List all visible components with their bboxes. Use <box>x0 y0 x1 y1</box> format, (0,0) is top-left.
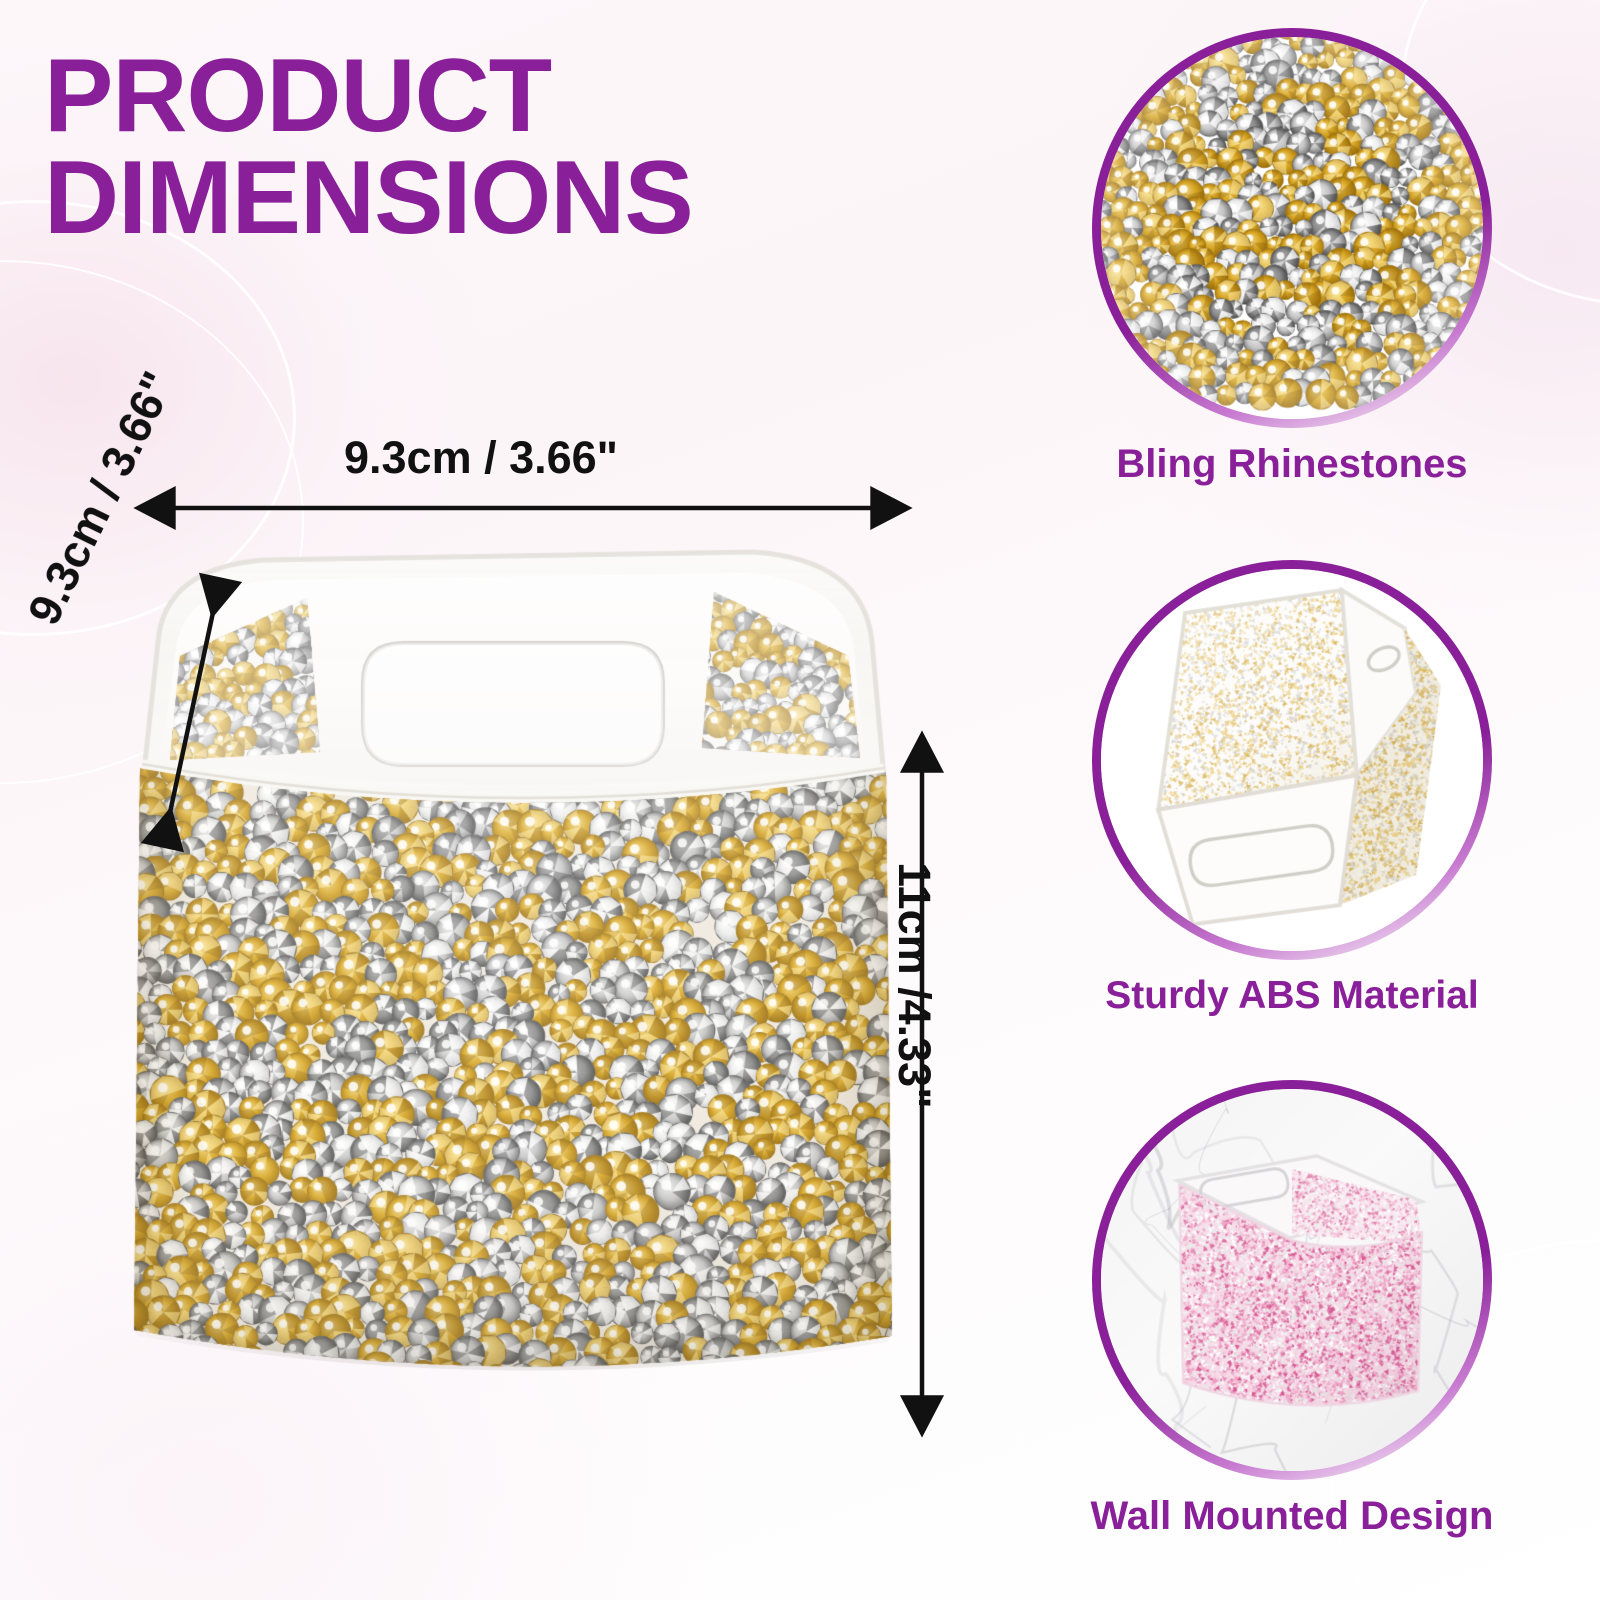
abs-organizer-angle-canvas <box>1101 569 1483 951</box>
feature-wall-mounted-design: Wall Mounted Design <box>1082 1080 1502 1539</box>
pink-organizer-wall-canvas <box>1101 1089 1483 1471</box>
circle-image <box>1101 569 1483 951</box>
feature-caption: Sturdy ABS Material <box>1082 974 1502 1018</box>
height-dimension-label: 11cm /4.33" <box>888 862 940 1109</box>
title-line-1: PRODUCT <box>44 46 1004 148</box>
feature-sturdy-abs-material: Sturdy ABS Material <box>1082 560 1502 1018</box>
rhinestone-closeup-canvas <box>1101 37 1483 419</box>
circle-image <box>1101 1089 1483 1471</box>
title-line-2: DIMENSIONS <box>44 148 1004 250</box>
feature-caption: Wall Mounted Design <box>1082 1494 1502 1539</box>
feature-bling-rhinestones: Bling Rhinestones <box>1082 28 1502 487</box>
page-title: PRODUCT DIMENSIONS <box>44 46 1004 250</box>
product-image <box>118 528 908 1400</box>
feature-thumbnail <box>1092 560 1492 960</box>
infographic-page: PRODUCT DIMENSIONS <box>0 0 1600 1600</box>
circle-image <box>1101 37 1483 419</box>
feature-thumbnail <box>1092 1080 1492 1480</box>
width-dimension-label: 9.3cm / 3.66" <box>344 432 618 484</box>
feature-thumbnail <box>1092 28 1492 428</box>
feature-caption: Bling Rhinestones <box>1082 442 1502 487</box>
product-canvas <box>118 528 908 1400</box>
